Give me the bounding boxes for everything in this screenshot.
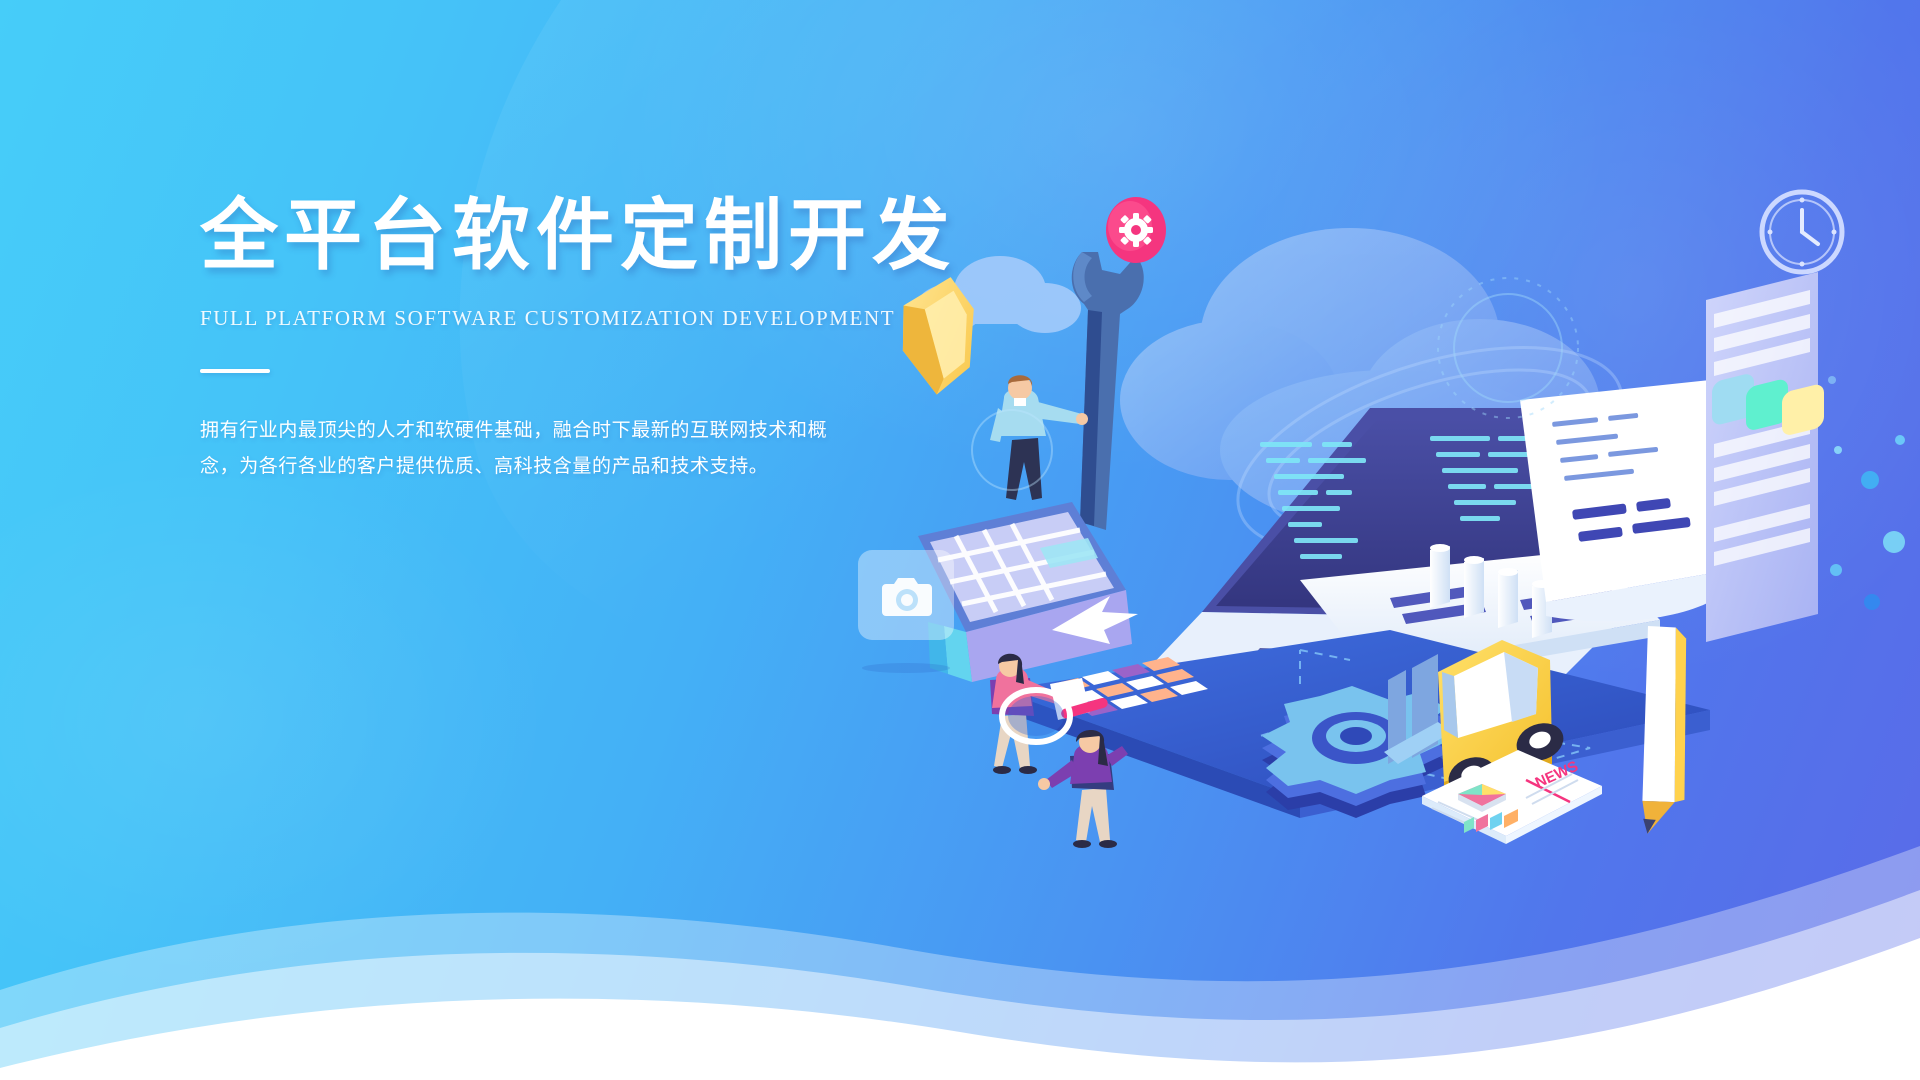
- info-panel: [1706, 272, 1824, 642]
- person-engineer: [990, 375, 1088, 500]
- gear-badge-icon: [1106, 197, 1166, 263]
- title-divider: [200, 369, 270, 373]
- hero-banner: 全平台软件定制开发 FULL PLATFORM SOFTWARE CUSTOMI…: [0, 0, 1920, 1080]
- bottom-waves: [0, 780, 1920, 1080]
- clock-icon: [1762, 192, 1842, 272]
- page-subtitle: FULL PLATFORM SOFTWARE CUSTOMIZATION DEV…: [200, 306, 900, 331]
- decor-dots: [1828, 376, 1905, 610]
- page-title: 全平台软件定制开发: [200, 196, 900, 274]
- page-description: 拥有行业内最顶尖的人才和软硬件基础，融合时下最新的互联网技术和概念，为各行各业的…: [200, 413, 846, 485]
- hero-copy: 全平台软件定制开发 FULL PLATFORM SOFTWARE CUSTOMI…: [200, 196, 900, 485]
